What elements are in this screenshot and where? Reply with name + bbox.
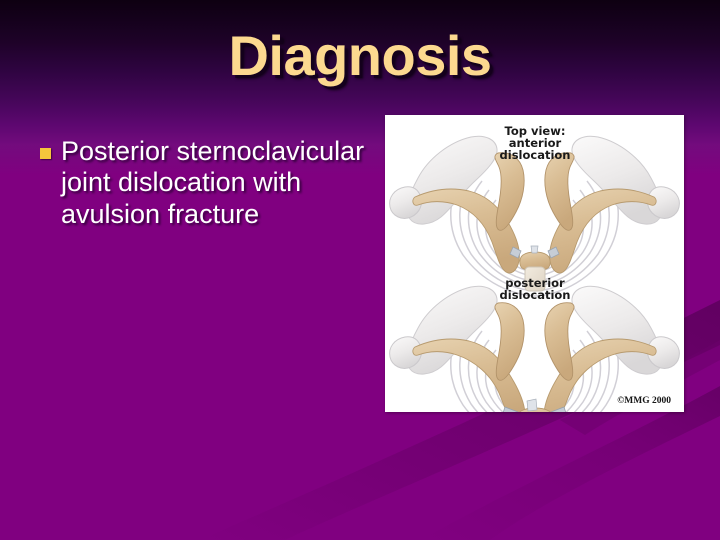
bullet-text: Posterior sternoclavicular joint disloca… [61, 136, 370, 230]
bullet-square-icon [40, 148, 51, 159]
label-dislocation-top: dislocation [500, 148, 571, 162]
slide-title: Diagnosis [0, 28, 720, 84]
illustration-image: Top view: anterior dislocation [385, 115, 684, 412]
copyright-notice: ©MMG 2000 [617, 395, 671, 406]
presentation-slide: Diagnosis Posterior sternoclavicular joi… [0, 0, 720, 540]
sternoclavicular-anatomy-svg: Top view: anterior dislocation [385, 115, 684, 412]
label-dislocation-bottom: dislocation [500, 288, 571, 302]
bullet-item: Posterior sternoclavicular joint disloca… [40, 136, 370, 230]
slide-body: Posterior sternoclavicular joint disloca… [40, 136, 370, 230]
